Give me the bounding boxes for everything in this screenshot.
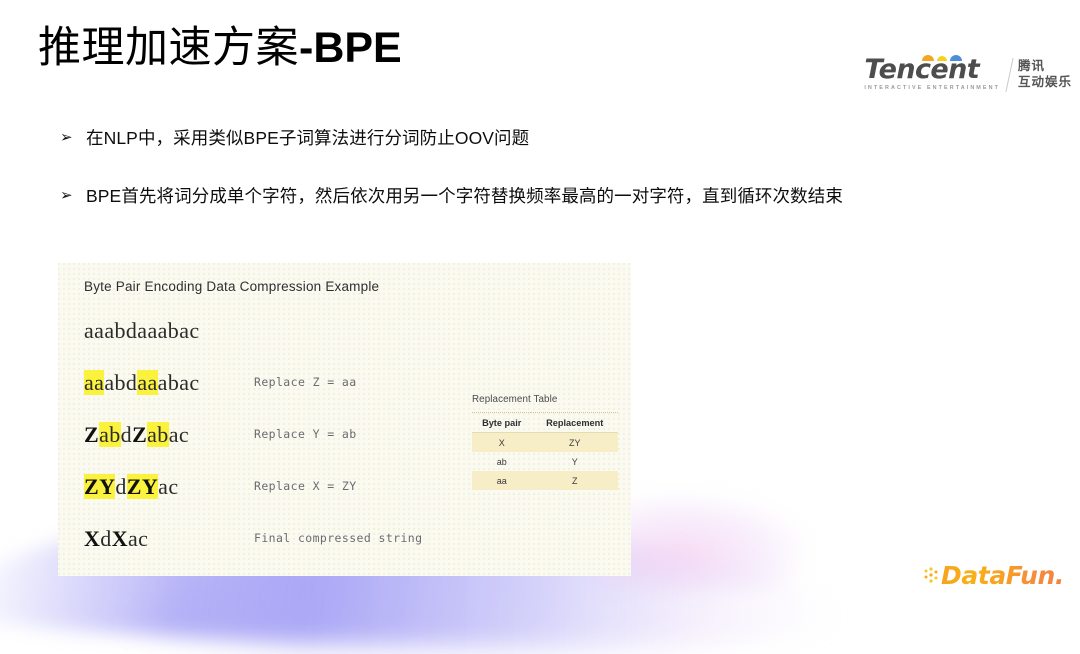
tencent-cn-block: 腾讯 互动娱乐 [1018, 56, 1072, 90]
replacement-table-block: Replacement Table Byte pair Replacement … [472, 394, 618, 490]
bullet-text: 在NLP中，采用类似BPE子词算法进行分词防止OOV问题 [86, 124, 529, 152]
bpe-sequence: ZYdZYac [84, 474, 179, 500]
bpe-sequence-segment: d [100, 526, 111, 551]
bpe-sequence-segment: d [115, 474, 126, 499]
bpe-sequence-segment: X [112, 526, 128, 551]
table-row: aaZ [472, 471, 618, 490]
page-title-latin: -BPE [299, 24, 402, 72]
datafun-logo: DataFun. [923, 560, 1064, 590]
bpe-example-figure: Byte Pair Encoding Data Compression Exam… [58, 263, 631, 576]
bpe-sequence-segment: ac [128, 526, 148, 551]
bpe-sequence: ZabdZabac [84, 422, 189, 448]
bpe-sequence-segment: abac [158, 370, 200, 395]
bpe-step-rows: aaabdaaabacaaabdaaabacReplace Z = aaZabd… [84, 318, 504, 576]
bpe-sequence-segment: aa [84, 370, 104, 395]
bpe-sequence-segment: Z [132, 422, 147, 447]
tencent-tagline: INTERACTIVE ENTERTAINMENT [864, 85, 1000, 91]
bullet-arrow-icon: ➢ [60, 124, 86, 150]
bpe-step-note: Replace Y = ab [254, 427, 357, 441]
cell-byte-pair: aa [472, 471, 531, 490]
datafun-dots-icon [923, 566, 940, 584]
figure-title: Byte Pair Encoding Data Compression Exam… [84, 279, 379, 294]
cell-byte-pair: X [472, 433, 531, 453]
tencent-cn-line1: 腾讯 [1018, 59, 1072, 75]
bpe-step-row: ZabdZabacReplace Y = ab [84, 422, 504, 474]
column-header-byte-pair: Byte pair [472, 413, 531, 433]
bpe-step-note: Replace Z = aa [254, 375, 357, 389]
tencent-cn-line2: 互动娱乐 [1018, 75, 1072, 91]
bpe-sequence-segment: ac [158, 474, 178, 499]
bpe-step-row: XdXacFinal compressed string [84, 526, 504, 576]
bpe-sequence-segment: aaabdaaabac [84, 318, 200, 343]
bullet-text: BPE首先将词分成单个字符，然后依次用另一个字符替换频率最高的一对字符，直到循环… [86, 182, 843, 210]
table-body: XZYabYaaZ [472, 433, 618, 491]
bpe-sequence-segment: Z [84, 422, 99, 447]
cell-replacement: Y [531, 452, 618, 471]
bullet-arrow-icon: ➢ [60, 182, 86, 208]
list-item: ➢ 在NLP中，采用类似BPE子词算法进行分词防止OOV问题 [60, 124, 890, 152]
bpe-sequence-segment: ZY [127, 474, 158, 499]
tencent-logo: Tencent INTERACTIVE ENTERTAINMENT 腾讯 互动娱… [864, 56, 1072, 102]
bpe-step-row: aaabdaaabac [84, 318, 504, 370]
column-header-replacement: Replacement [531, 413, 618, 433]
bpe-sequence: aaabdaaabac [84, 370, 200, 396]
bpe-sequence-segment: ZY [84, 474, 115, 499]
page-title-cjk: 推理加速方案 [38, 24, 299, 72]
bpe-sequence-segment: X [84, 526, 100, 551]
bpe-sequence: aaabdaaabac [84, 318, 200, 344]
bpe-sequence-segment: ab [99, 422, 121, 447]
table-header-row: Byte pair Replacement [472, 413, 618, 433]
bpe-sequence-segment: ab [147, 422, 169, 447]
page-title: 推理加速方案-BPE [38, 26, 402, 71]
bpe-sequence: XdXac [84, 526, 148, 552]
bpe-step-row: aaabdaaabacReplace Z = aa [84, 370, 504, 422]
cell-byte-pair: ab [472, 452, 531, 471]
cell-replacement: ZY [531, 433, 618, 453]
replacement-table-title: Replacement Table [472, 394, 618, 405]
bpe-sequence-segment: abd [104, 370, 137, 395]
bpe-step-row: ZYdZYacReplace X = ZY [84, 474, 504, 526]
datafun-wordmark: DataFun. [941, 563, 1064, 588]
list-item: ➢ BPE首先将词分成单个字符，然后依次用另一个字符替换频率最高的一对字符，直到… [60, 182, 890, 210]
bpe-step-note: Replace X = ZY [254, 479, 357, 493]
bullet-list: ➢ 在NLP中，采用类似BPE子词算法进行分词防止OOV问题 ➢ BPE首先将词… [60, 124, 890, 210]
tencent-arc-dots-icon [921, 53, 965, 62]
table-row: abY [472, 452, 618, 471]
tencent-wordmark-block: Tencent INTERACTIVE ENTERTAINMENT [864, 56, 1009, 91]
replacement-table: Byte pair Replacement XZYabYaaZ [472, 412, 618, 490]
bpe-step-note: Final compressed string [254, 531, 422, 545]
bpe-sequence-segment: aa [137, 370, 157, 395]
bpe-sequence-segment: d [121, 422, 132, 447]
bpe-sequence-segment: ac [169, 422, 189, 447]
table-row: XZY [472, 433, 618, 453]
cell-replacement: Z [531, 471, 618, 490]
